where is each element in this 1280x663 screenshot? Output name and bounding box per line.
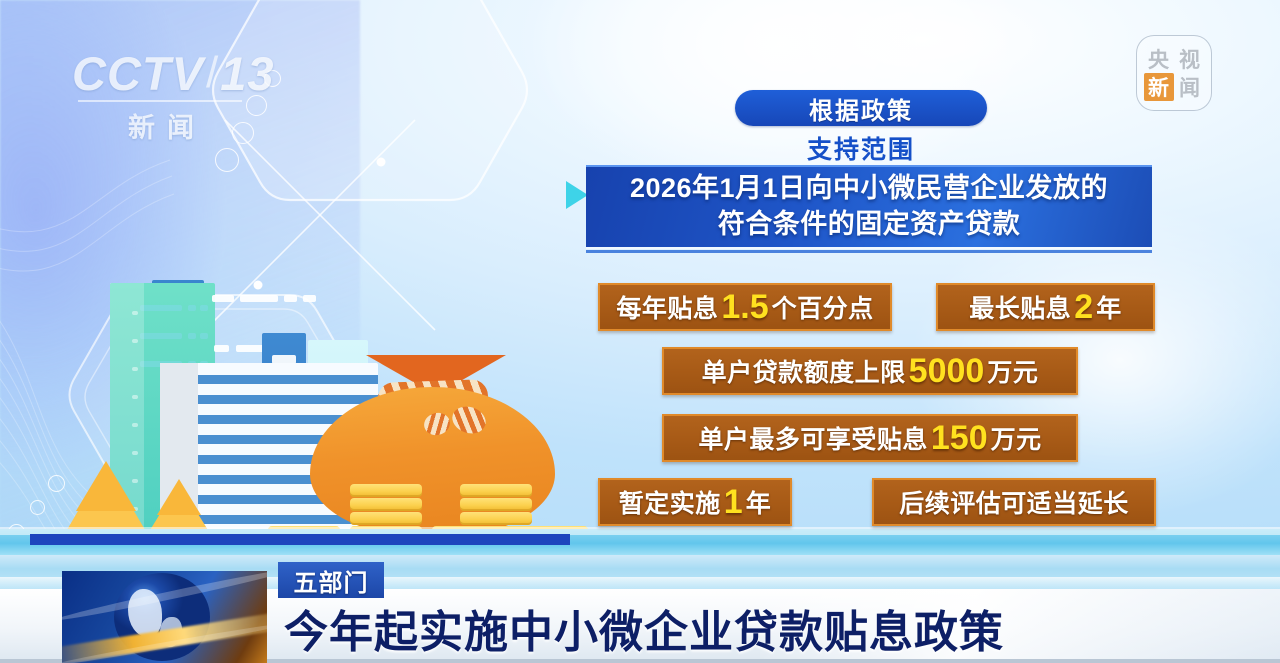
scope-banner-line2: 符合条件的固定资产贷款 bbox=[718, 207, 1021, 243]
cctv-logo-number: 13 bbox=[220, 50, 274, 97]
city-illustration bbox=[0, 135, 640, 555]
fact-trial-suffix: 年 bbox=[746, 484, 772, 520]
fact-limit-prefix: 单户贷款额度上限 bbox=[702, 353, 906, 389]
play-triangle-icon bbox=[566, 181, 588, 209]
cctv-logo-text: CCTV bbox=[72, 50, 204, 97]
watermark-char-shi: 视 bbox=[1175, 45, 1205, 73]
headline-text: 今年起实施中小微企业贷款贴息政策 bbox=[284, 596, 1004, 660]
scope-subtitle: 支持范围 bbox=[735, 130, 987, 166]
fact-max-suffix: 万元 bbox=[991, 420, 1042, 456]
fact-rate-value: 1.5 bbox=[718, 290, 771, 324]
globe-icon bbox=[62, 571, 267, 663]
cctv-logo-bar bbox=[78, 100, 242, 102]
fact-box-max-subsidy: 单户最多可享受贴息 150 万元 bbox=[662, 414, 1078, 462]
fact-limit-value: 5000 bbox=[906, 354, 988, 388]
headline: 今年起实施中小微企业贷款贴息政策 bbox=[284, 600, 1184, 656]
fact-term-prefix: 最长贴息 bbox=[969, 289, 1071, 325]
fact-max-prefix: 单户最多可享受贴息 bbox=[698, 420, 928, 456]
fact-box-trial-period: 暂定实施 1 年 bbox=[598, 478, 792, 526]
source-tag: 五部门 bbox=[278, 562, 384, 598]
fact-rate-suffix: 个百分点 bbox=[772, 289, 874, 325]
watermark-char-xin: 新 bbox=[1144, 73, 1174, 101]
cctv-logo: CCTV / 13 新闻 bbox=[72, 48, 262, 136]
fact-trial-value: 1 bbox=[721, 485, 746, 519]
policy-basis-pill: 根据政策 bbox=[735, 90, 987, 126]
source-tag-label: 五部门 bbox=[294, 563, 369, 598]
fact-max-value: 150 bbox=[928, 421, 991, 455]
broadcast-screen: CCTV / 13 新闻 央 视 新 闻 根据政策 支持范围 2026年1月1日… bbox=[0, 0, 1280, 663]
cctv-logo-slash: / bbox=[204, 48, 220, 98]
fact-box-rate: 每年贴息 1.5 个百分点 bbox=[598, 283, 892, 331]
policy-basis-label: 根据政策 bbox=[809, 91, 913, 126]
ground-band-dark bbox=[30, 534, 570, 545]
watermark-char-wen: 闻 bbox=[1175, 73, 1205, 101]
fact-rate-prefix: 每年贴息 bbox=[616, 289, 718, 325]
watermark-char-yang: 央 bbox=[1144, 45, 1174, 73]
fact-trial-prefix: 暂定实施 bbox=[619, 484, 721, 520]
fact-term-value: 2 bbox=[1071, 290, 1096, 324]
scope-banner: 2026年1月1日向中小微民营企业发放的 符合条件的固定资产贷款 bbox=[586, 165, 1152, 247]
fact-box-extension: 后续评估可适当延长 bbox=[872, 478, 1156, 526]
cctv-logo-subtitle: 新闻 bbox=[72, 106, 262, 145]
scope-banner-underline bbox=[586, 250, 1152, 253]
fact-limit-suffix: 万元 bbox=[987, 353, 1038, 389]
cctv-news-watermark: 央 视 新 闻 bbox=[1136, 35, 1212, 111]
fact-box-loan-limit: 单户贷款额度上限 5000 万元 bbox=[662, 347, 1078, 395]
fact-ext-prefix: 后续评估可适当延长 bbox=[899, 484, 1129, 520]
fact-term-suffix: 年 bbox=[1096, 289, 1122, 325]
scope-banner-line1: 2026年1月1日向中小微民营企业发放的 bbox=[630, 171, 1108, 207]
fact-box-term: 最长贴息 2 年 bbox=[936, 283, 1155, 331]
